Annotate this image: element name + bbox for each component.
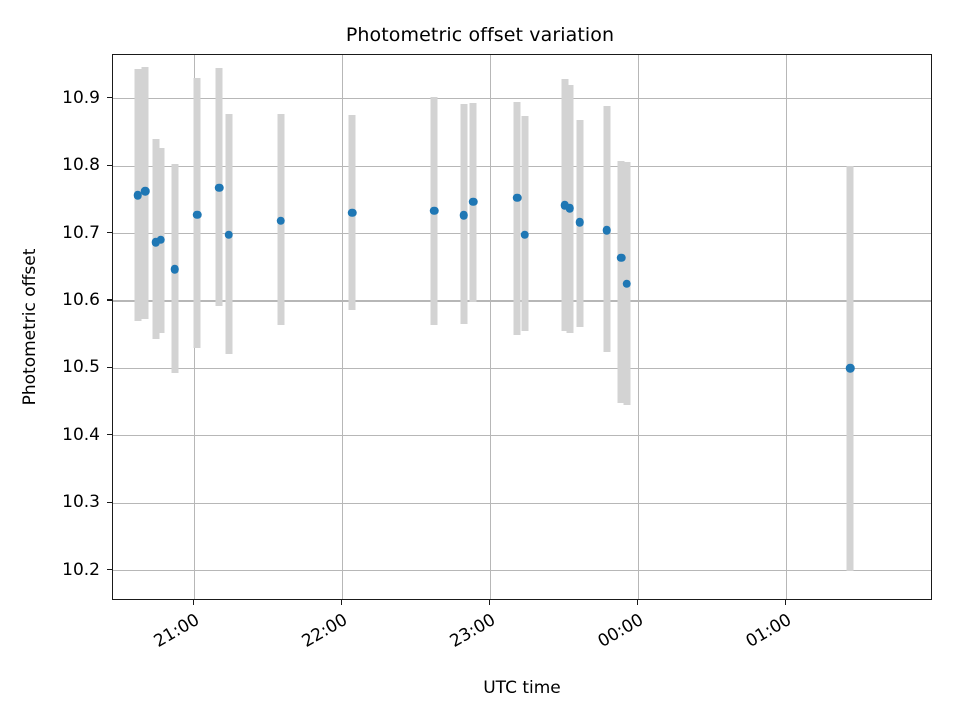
y-axis-label-wrap: Photometric offset — [26, 54, 28, 600]
x-tick-label: 01:00 — [732, 610, 796, 658]
x-axis: 21:0022:0023:0000:0001:00 — [0, 600, 960, 690]
gridline-vertical — [342, 55, 343, 599]
data-point-marker — [469, 198, 478, 207]
x-tick-mark — [785, 600, 786, 605]
y-tick-label: 10.7 — [62, 223, 100, 243]
data-point-marker — [277, 217, 286, 226]
gridline-vertical — [786, 55, 787, 599]
x-tick-mark — [637, 600, 638, 605]
data-point-marker — [846, 364, 855, 373]
errorbar — [521, 116, 528, 331]
y-tick-label: 10.4 — [62, 425, 100, 445]
data-point-marker — [170, 265, 179, 274]
x-tick-label: 21:00 — [140, 610, 204, 658]
gridline-horizontal — [113, 570, 931, 571]
data-point-marker — [566, 204, 575, 213]
y-tick-mark — [107, 165, 112, 166]
data-point-marker — [193, 211, 202, 220]
gridline-horizontal — [113, 368, 931, 369]
x-tick-mark — [489, 600, 490, 605]
x-tick-mark — [193, 600, 194, 605]
data-point-marker — [141, 187, 150, 196]
chart-title: Photometric offset variation — [0, 24, 960, 46]
x-tick-mark — [341, 600, 342, 605]
gridline-horizontal — [113, 98, 931, 99]
gridline-vertical — [490, 55, 491, 599]
y-tick-mark — [107, 502, 112, 503]
x-tick-label: 23:00 — [436, 610, 500, 658]
y-tick-mark — [107, 434, 112, 435]
x-tick-label: 00:00 — [584, 610, 648, 658]
y-tick-label: 10.9 — [62, 88, 100, 108]
y-tick-label: 10.6 — [62, 290, 100, 310]
data-point-marker — [617, 254, 626, 263]
plot-area — [112, 54, 932, 600]
data-point-marker — [215, 184, 224, 193]
data-point-marker — [460, 211, 469, 220]
y-tick-mark — [107, 97, 112, 98]
errorbar — [514, 102, 521, 335]
x-axis-label: UTC time — [112, 678, 932, 698]
data-point-marker — [224, 231, 233, 240]
y-tick-label: 10.5 — [62, 357, 100, 377]
y-tick-mark — [107, 299, 112, 300]
data-point-marker — [348, 208, 357, 217]
data-point-marker — [156, 235, 165, 244]
gridline-vertical — [638, 55, 639, 599]
y-tick-label: 10.3 — [62, 492, 100, 512]
data-point-marker — [430, 206, 439, 215]
data-point-marker — [622, 279, 631, 288]
data-point-marker — [603, 226, 612, 235]
data-point-marker — [521, 231, 530, 240]
data-point-marker — [513, 194, 522, 203]
gridline-horizontal — [113, 435, 931, 436]
y-tick-label: 10.8 — [62, 155, 100, 175]
data-point-marker — [576, 218, 585, 227]
y-axis-label: Photometric offset — [20, 249, 40, 406]
y-tick-mark — [107, 569, 112, 570]
y-tick-mark — [107, 367, 112, 368]
y-tick-label: 10.2 — [62, 560, 100, 580]
chart-figure: Photometric offset variation 10.210.310.… — [0, 0, 960, 720]
gridline-horizontal — [113, 503, 931, 504]
x-tick-label: 22:00 — [288, 610, 352, 658]
y-tick-mark — [107, 232, 112, 233]
